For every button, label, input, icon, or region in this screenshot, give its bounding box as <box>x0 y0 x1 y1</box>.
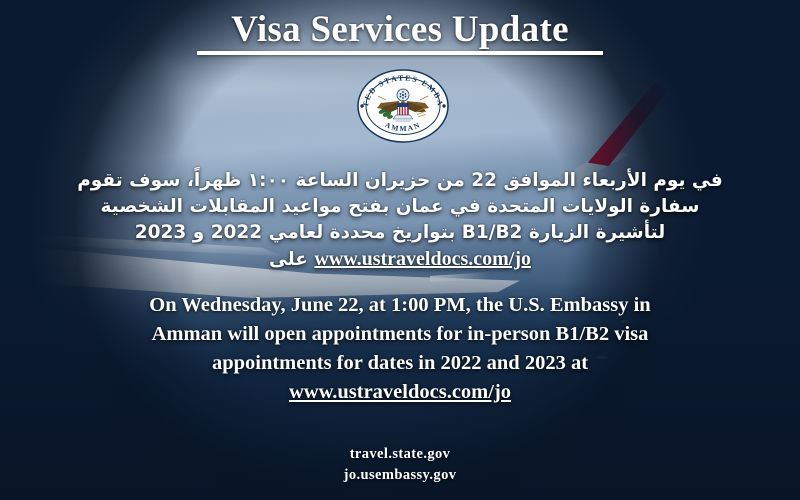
page-title: Visa Services Update <box>0 8 800 51</box>
visa-services-update-poster: Visa Services Update UNITED STATES EMBAS… <box>0 0 800 500</box>
english-ustraveldocs-link[interactable]: www.ustraveldocs.com/jo <box>70 378 730 407</box>
arabic-ustraveldocs-link[interactable]: www.ustraveldocs.com/jo <box>314 246 531 272</box>
english-announcement: On Wednesday, June 22, at 1:00 PM, the U… <box>70 291 730 407</box>
title-underline <box>197 51 603 55</box>
english-line-2: Amman will open appointments for in-pers… <box>70 320 730 349</box>
arabic-line-1: في يوم الأربعاء الموافق 22 من حزيران الس… <box>40 168 760 194</box>
footer-jo-usembassy-gov[interactable]: jo.usembassy.gov <box>0 465 800 486</box>
arabic-announcement: في يوم الأربعاء الموافق 22 من حزيران الس… <box>40 168 760 273</box>
english-line-3: appointments for dates in 2022 and 2023 … <box>70 349 730 378</box>
us-embassy-seal-icon: UNITED STATES EMBASSY AMMAN <box>357 69 449 143</box>
footer-travel-state-gov[interactable]: travel.state.gov <box>0 444 800 465</box>
arabic-link-prefix: على <box>269 249 308 270</box>
arabic-line-2: سفارة الولايات المتحدة في عمان بفتح مواع… <box>40 194 760 220</box>
footer: travel.state.gov jo.usembassy.gov <box>0 444 800 486</box>
arabic-line-4: www.ustraveldocs.com/jo على <box>40 246 760 273</box>
poster-content: Visa Services Update UNITED STATES EMBAS… <box>0 0 800 500</box>
english-line-1: On Wednesday, June 22, at 1:00 PM, the U… <box>70 291 730 320</box>
arabic-line-3: لتأشيرة الزيارة B1/B2 بتواريخ محددة لعام… <box>40 220 760 246</box>
